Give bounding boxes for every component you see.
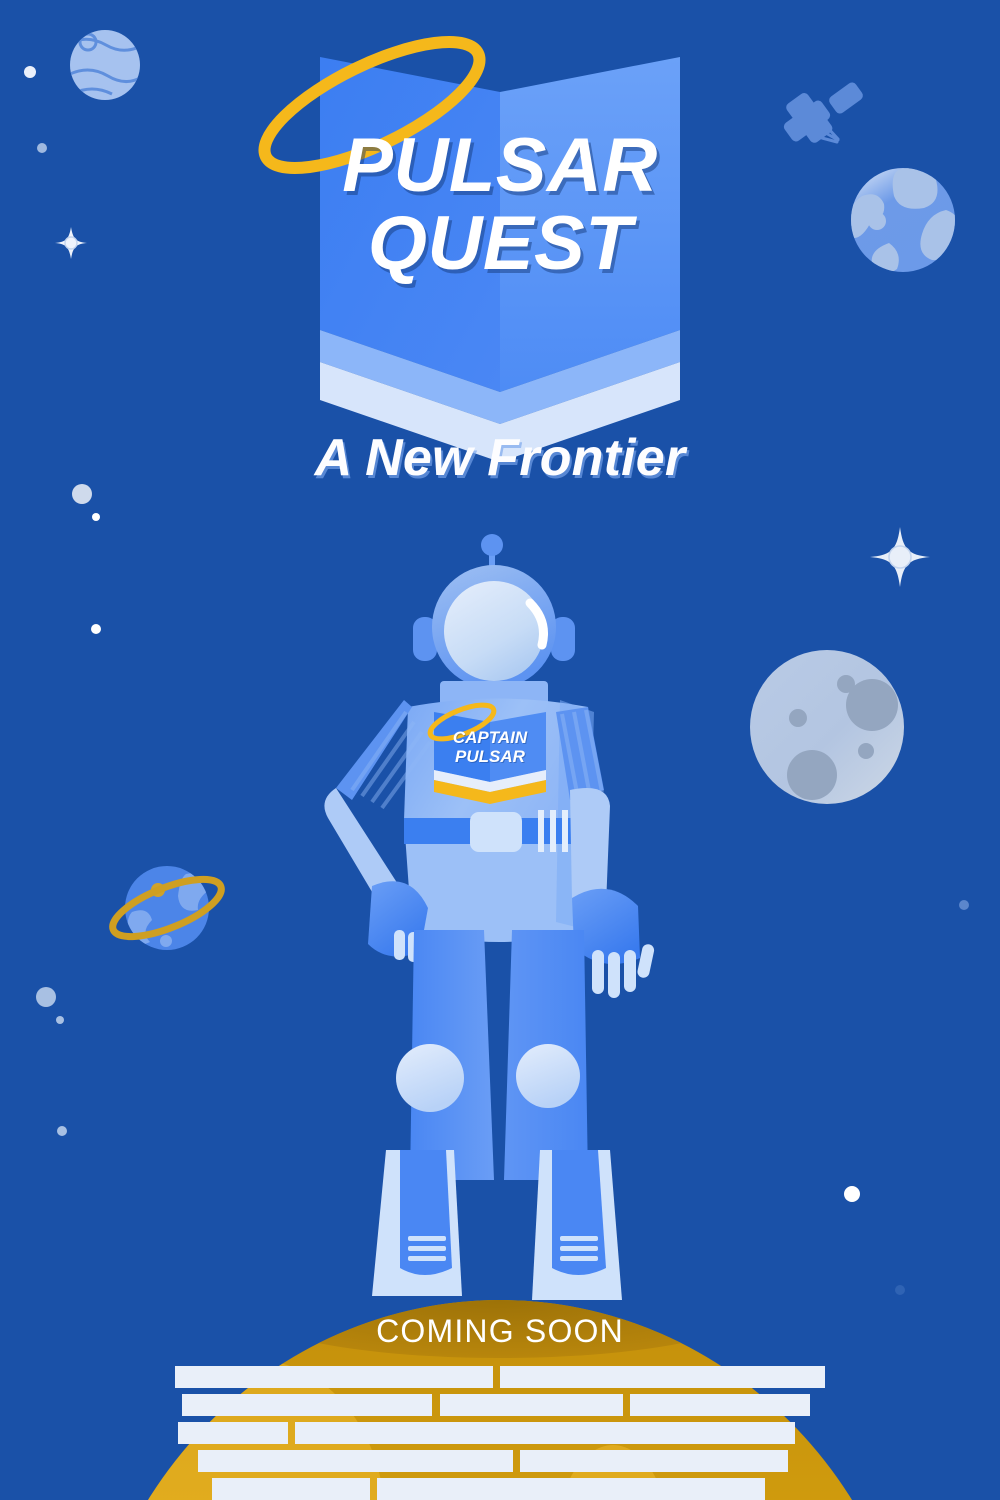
knee-pad-left: [396, 1044, 464, 1112]
knee-pad-right: [516, 1044, 580, 1108]
belt-buckle: [470, 812, 522, 852]
badge-line1: CAPTAIN: [430, 729, 550, 746]
pulsar-quest-poster: PULSAR QUEST A New Frontier COMING SOON: [0, 0, 1000, 1500]
helmet-visor: [444, 581, 544, 681]
boot-left-stripes: [408, 1236, 446, 1261]
boot-right-stripes: [560, 1236, 598, 1261]
astronaut-boot-right: [532, 1150, 622, 1300]
astronaut-boot-left: [372, 1150, 462, 1296]
belt-stripes: [538, 810, 568, 852]
badge-line2: PULSAR: [430, 748, 550, 765]
